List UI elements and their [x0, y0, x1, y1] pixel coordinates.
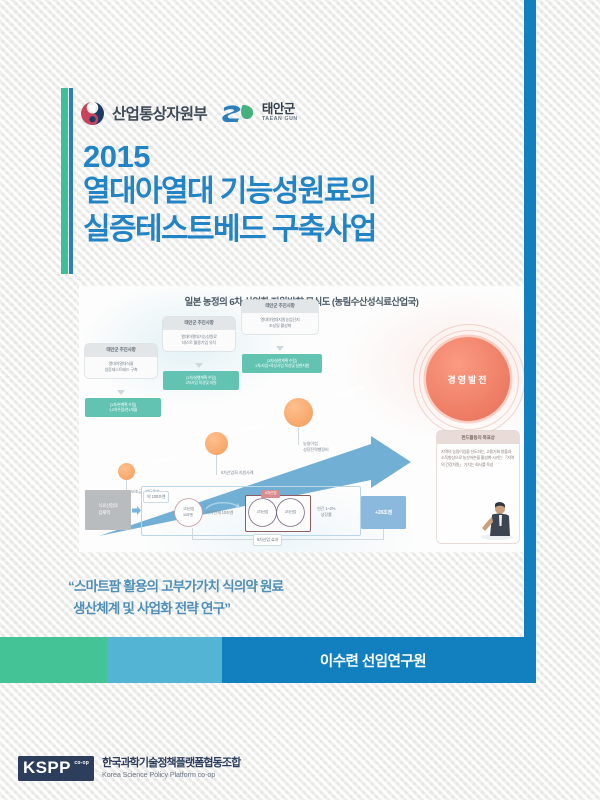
author-name: 이수련 선임연구원	[222, 637, 524, 683]
title-line-1: 열대아열대 기능성원료의	[83, 173, 513, 211]
node-arrow-2	[195, 363, 203, 368]
taegeuk-swirl-icon	[80, 101, 105, 126]
growth-rate-label: 연간 1~2% 성장률	[317, 506, 335, 519]
node-box-2-body: 열대아열대기능성원료 테스트 활용기업 유치	[163, 330, 235, 352]
title-accent-bar-blue	[69, 88, 73, 274]
caption-leader-3	[298, 427, 299, 445]
logo-row: 산업통상자원부 태안군 TAEAN GUN	[80, 96, 298, 130]
presenter-illustration-icon	[479, 500, 515, 540]
circular-flow-icon	[203, 498, 241, 514]
info-panel-body: 지역의 농림어업을 선도하는, 고용기회 창출과 소득향상으로 농산어촌을 활성…	[437, 444, 519, 473]
info-panel: 펀드활용의 목표상 지역의 농림어업을 선도하는, 고용기회 창출과 소득향상으…	[437, 431, 519, 543]
node-box-3-body: 열대아열대지원농업단지 조성및 활성화	[242, 313, 318, 335]
core-circle: 경영발전	[426, 337, 510, 421]
footer-name-en: Korea Science Policy Platform co-op	[102, 771, 240, 779]
total-label: 약 100조엔	[143, 491, 169, 503]
title-accent-bar-green	[61, 88, 68, 274]
teal-box-3: [3차/실현계획 수립] 1차/사업+육성사업 육성및 실현지원	[242, 354, 322, 373]
footnote-label: 6차산업 효과	[253, 534, 282, 546]
kspp-logo-mark: KSPP co-op	[18, 756, 94, 781]
footer-name-ko: 한국과학기술정책플랫폼협동조합	[102, 757, 240, 769]
diagram-figure: 일본 농정의 6차 산업화 지원방향 모식도 (농림수산성식료산업국) 경영발전…	[79, 286, 524, 552]
node-box-1-head: 태안군 추진사항	[85, 344, 157, 357]
teal-box-1: [1차/본계획 수립] 1,2차수립/연1개월	[85, 398, 161, 417]
bottom-strip: 식료산업의 잠재력 약 100조엔 1차산업 10조엔 가치전체 10조엔 6차…	[85, 482, 433, 544]
title-block: 2015 열대아열대 기능성원료의 실증테스트베드 구축사업	[83, 140, 513, 249]
caption-2: 6차산업화 지원사례	[221, 470, 253, 476]
node-box-1: 태안군 추진사항 열대아열대식물 실증테스트베드 구축	[85, 344, 157, 378]
stage-circle-3	[284, 398, 313, 427]
band-segment-green	[0, 637, 107, 683]
node-arrow-1	[117, 390, 125, 395]
taean-name-block: 태안군 TAEAN GUN	[262, 103, 298, 122]
quote-line-2: 생산체계 및 사업화 전략 연구”	[68, 598, 468, 620]
taean-name-en: TAEAN GUN	[262, 117, 298, 122]
presentation-cover-slide: 산업통상자원부 태안군 TAEAN GUN 2015 열대아열대 기능성원료의 …	[0, 0, 600, 800]
sixth-industry-tab: 6차산업	[261, 490, 280, 498]
taean-wave-leaf-icon	[221, 102, 255, 124]
tertiary-industry-circle: 3차산업	[277, 499, 304, 526]
title-line-2: 실증테스트베드 구축사업	[83, 211, 513, 249]
primary-industry-circle: 1차산업 10조엔	[175, 499, 202, 526]
taean-name-ko: 태안군	[262, 103, 298, 116]
node-box-1-body: 열대아열대식물 실증테스트베드 구축	[85, 357, 157, 379]
target-box: +20조엔	[361, 496, 406, 529]
taean-county-logo: 태안군 TAEAN GUN	[221, 102, 298, 124]
secondary-industry-circle: 2차산업	[249, 499, 276, 526]
caption-leader-2	[216, 455, 217, 475]
footnote-connector	[192, 539, 384, 540]
stage-circle-1	[118, 463, 135, 480]
band-segment-light-blue	[107, 637, 222, 683]
info-panel-head: 펀드활용의 목표상	[437, 431, 519, 444]
footer: KSPP co-op 한국과학기술정책플랫폼협동조합 Korea Science…	[0, 736, 600, 800]
flow-arrow-icon	[132, 506, 141, 515]
node-box-2-head: 태안군 추진사항	[163, 317, 235, 330]
node-arrow-3	[276, 346, 284, 351]
node-box-2: 태안군 추진사항 열대아열대기능성원료 테스트 활용기업 유치	[163, 317, 235, 351]
right-edge-accent-bar	[524, 0, 536, 683]
stage-circle-2	[205, 432, 228, 455]
teal-box-2: [1차/실행계획 수립] 2차사업 육성및 지원	[163, 371, 239, 390]
subtitle-quote: “스마트팜 활용의 고부가가치 식의약 원료 생산체계 및 사업화 전략 연구”	[68, 576, 468, 620]
quote-line-1: “스마트팜 활용의 고부가가치 식의약 원료	[68, 576, 468, 598]
node-box-3: 태안군 추진사항 열대아열대지원농업단지 조성및 활성화	[242, 300, 318, 334]
footnote-leader-right	[383, 529, 384, 540]
node-box-3-head: 태안군 추진사항	[242, 300, 318, 313]
title-year: 2015	[83, 140, 513, 173]
kspp-letters: KSPP	[23, 758, 71, 778]
potential-box: 식료산업의 잠재력	[85, 490, 131, 530]
ministry-name: 산업통상자원부	[112, 102, 207, 124]
caption-3: 농림어업 성장전략행정비	[303, 441, 329, 454]
kspp-coop-label: co-op	[74, 760, 89, 766]
ministry-logo: 산업통상자원부	[80, 101, 207, 126]
footer-org-name: 한국과학기술정책플랫폼협동조합 Korea Science Policy Pla…	[102, 757, 240, 779]
